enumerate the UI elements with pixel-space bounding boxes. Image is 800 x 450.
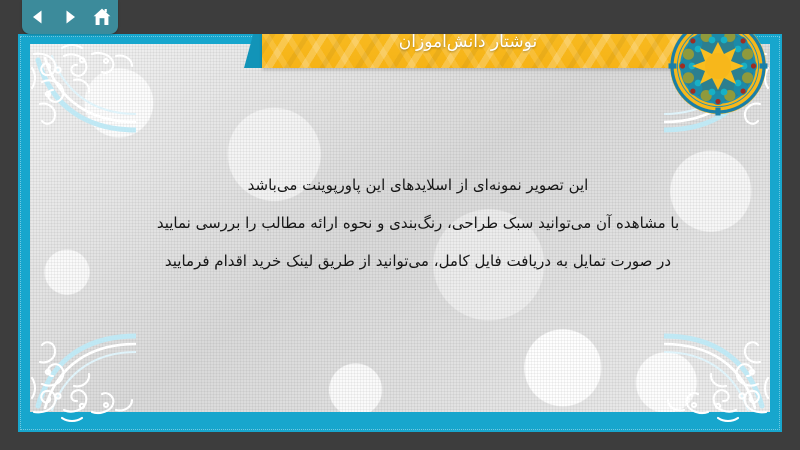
back-button[interactable]: [25, 4, 51, 30]
triangle-right-icon: [61, 8, 79, 26]
body-line-1: این تصویر نمونه‌ای از اسلایدهای این پاور…: [58, 166, 778, 204]
navigation-button-group: [22, 0, 118, 34]
forward-button[interactable]: [57, 4, 83, 30]
top-chrome-bar: [0, 0, 800, 34]
slide-preview-window: این تصویر نمونه‌ای از اسلایدهای این پاور…: [0, 0, 800, 450]
body-line-2: با مشاهده آن می‌توانید سبک طراحی، رنگ‌بن…: [58, 204, 778, 242]
body-line-3: در صورت تمایل به دریافت فایل کامل، می‌تو…: [58, 242, 778, 280]
slide-frame: این تصویر نمونه‌ای از اسلایدهای این پاور…: [18, 34, 782, 432]
home-button[interactable]: [89, 4, 115, 30]
triangle-left-icon: [29, 8, 47, 26]
home-icon: [92, 7, 112, 27]
slide-body-text: این تصویر نمونه‌ای از اسلایدهای این پاور…: [58, 166, 778, 280]
